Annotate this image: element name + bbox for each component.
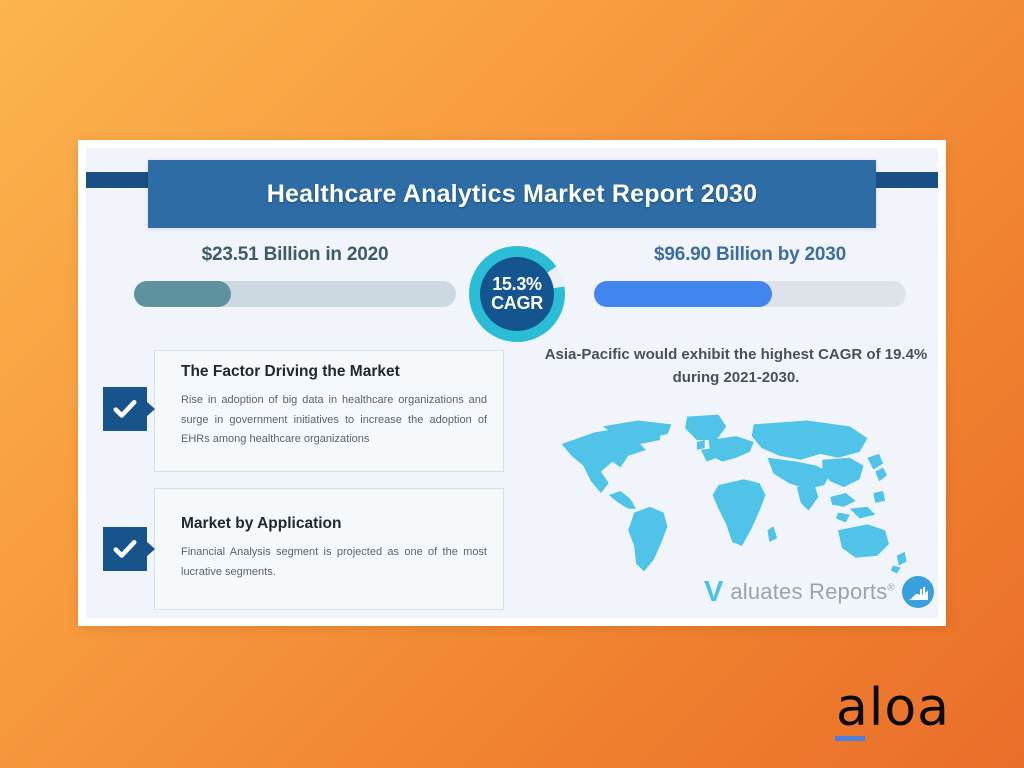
valuates-chart-icon xyxy=(902,576,934,608)
title-band: Healthcare Analytics Market Report 2030 xyxy=(86,160,938,200)
stat-base-year-bar-fill xyxy=(134,281,231,307)
stat-base-year-label: $23.51 Billion in 2020 xyxy=(134,244,456,266)
callout-title: The Factor Driving the Market xyxy=(181,363,487,381)
stat-base-year-bar-track xyxy=(134,281,456,307)
world-map xyxy=(544,410,936,578)
stat-forecast-year-label: $96.90 Billion by 2030 xyxy=(594,244,906,266)
stat-forecast-year: $96.90 Billion by 2030 xyxy=(594,244,906,307)
page-title: Healthcare Analytics Market Report 2030 xyxy=(267,180,757,209)
aloa-wordmark: aloa xyxy=(836,678,950,738)
banner-tab-left xyxy=(86,172,148,188)
stats-row: $23.51 Billion in 2020 15.3% CAGR $96.90… xyxy=(86,244,938,338)
callout-text: Financial Analysis segment is projected … xyxy=(181,543,487,582)
cagr-donut: 15.3% CAGR xyxy=(469,246,565,342)
infographic-card: Healthcare Analytics Market Report 2030 … xyxy=(78,140,946,626)
region-headline: Asia-Pacific would exhibit the highest C… xyxy=(538,344,934,389)
callout-card-market-by-application-body: Market by Application Financial Analysis… xyxy=(155,489,503,592)
check-icon xyxy=(103,387,147,431)
stat-forecast-year-bar-track xyxy=(594,281,906,307)
aloa-brand: aloa xyxy=(833,682,953,734)
callout-title: Market by Application xyxy=(181,515,487,533)
callout-text: Rise in adoption of big data in healthca… xyxy=(181,391,487,450)
valuates-word-text: aluates Reports xyxy=(730,579,887,604)
stat-base-year: $23.51 Billion in 2020 xyxy=(134,244,456,307)
cagr-unit: CAGR xyxy=(491,294,543,313)
callout-card-driving-factor: The Factor Driving the Market Rise in ad… xyxy=(154,350,504,472)
title-banner: Healthcare Analytics Market Report 2030 xyxy=(148,160,876,228)
aloa-underline xyxy=(835,736,865,741)
cagr-value: 15.3% xyxy=(492,275,542,294)
callout-card-market-by-application: Market by Application Financial Analysis… xyxy=(154,488,504,610)
valuates-reports-logo: V aluates Reports® xyxy=(686,572,934,612)
valuates-v-icon: V xyxy=(704,578,723,607)
stat-forecast-year-bar-fill xyxy=(594,281,772,307)
callout-card-driving-factor-body: The Factor Driving the Market Rise in ad… xyxy=(155,351,503,460)
registered-mark-icon: ® xyxy=(887,583,895,594)
check-icon xyxy=(103,527,147,571)
infographic-inner: Healthcare Analytics Market Report 2030 … xyxy=(86,148,938,618)
valuates-wordmark: aluates Reports® xyxy=(730,581,895,603)
cagr-core: 15.3% CAGR xyxy=(480,257,554,331)
banner-tab-right xyxy=(876,172,938,188)
